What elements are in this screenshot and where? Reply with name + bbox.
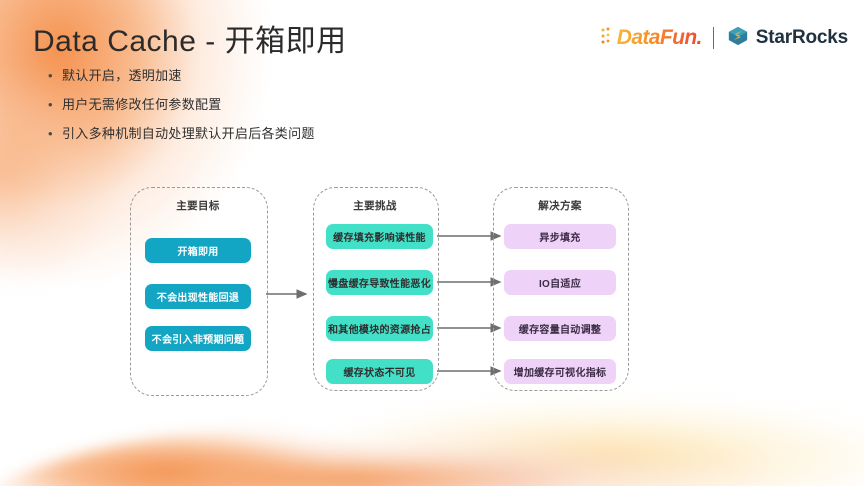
panel-challenges-title: 主要挑战 xyxy=(313,198,437,213)
panel-goals-title: 主要目标 xyxy=(130,198,266,213)
node-solution-2[interactable]: IO自适应 xyxy=(504,270,616,295)
node-goal-1[interactable]: 开箱即用 xyxy=(145,238,251,263)
node-challenge-3[interactable]: 和其他模块的资源抢占 xyxy=(326,316,433,341)
slide-canvas: Data Cache - 开箱即用 DataFun. xyxy=(0,0,864,486)
node-solution-1[interactable]: 异步填充 xyxy=(504,224,616,249)
node-goal-3[interactable]: 不会引入非预期问题 xyxy=(145,326,251,351)
node-solution-3[interactable]: 缓存容量自动调整 xyxy=(504,316,616,341)
panel-solutions-title: 解决方案 xyxy=(493,198,627,213)
node-challenge-1[interactable]: 缓存填充影响读性能 xyxy=(326,224,433,249)
architecture-diagram: 主要目标 开箱即用 不会出现性能回退 不会引入非预期问题 主要挑战 缓存填充影响… xyxy=(0,0,864,486)
node-challenge-2[interactable]: 慢盘缓存导致性能恶化 xyxy=(326,270,433,295)
node-solution-4[interactable]: 增加缓存可视化指标 xyxy=(504,359,616,384)
node-goal-2[interactable]: 不会出现性能回退 xyxy=(145,284,251,309)
node-challenge-4[interactable]: 缓存状态不可见 xyxy=(326,359,433,384)
